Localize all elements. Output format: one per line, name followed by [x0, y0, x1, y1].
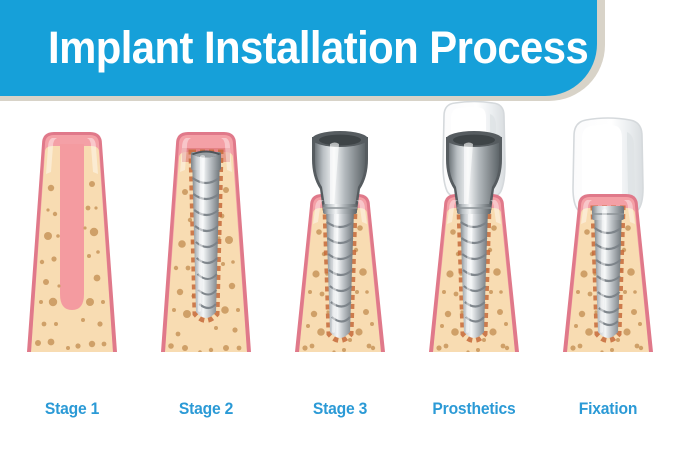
stage-label-stage-2: Stage 2	[143, 399, 268, 419]
page-title: Implant Installation Process	[48, 13, 550, 83]
prosthetics-illustration	[406, 96, 542, 396]
stage-3-illustration	[272, 96, 408, 396]
stage-1-illustration	[4, 96, 140, 396]
stage-label-prosthetics: Prosthetics	[411, 399, 536, 419]
stage-column-stage-2: Stage 2	[138, 96, 274, 460]
fixation-illustration	[540, 96, 676, 396]
stages-row: Stage 1	[0, 96, 680, 460]
implant-screw	[326, 208, 354, 338]
stage-column-stage-1: Stage 1	[4, 96, 140, 460]
stage-column-prosthetics: Prosthetics	[406, 96, 542, 460]
implant-screw	[460, 208, 488, 338]
stage-column-fixation: Fixation	[540, 96, 676, 460]
stage-label-stage-3: Stage 3	[277, 399, 402, 419]
stage-column-stage-3: Stage 3	[272, 96, 408, 460]
stage-label-fixation: Fixation	[545, 399, 670, 419]
infographic-canvas: Implant Installation Process	[0, 0, 680, 460]
stage-2-illustration	[138, 96, 274, 396]
stage-label-stage-1: Stage 1	[9, 399, 134, 419]
